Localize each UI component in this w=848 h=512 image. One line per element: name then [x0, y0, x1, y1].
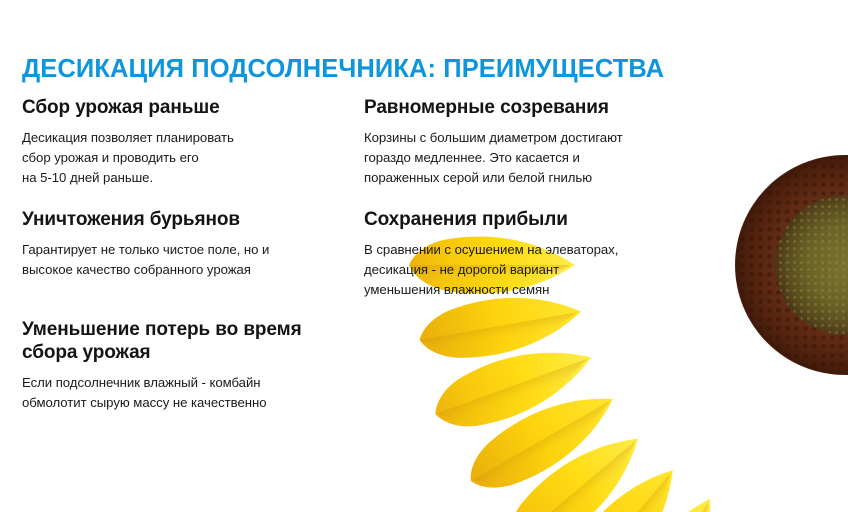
page-title: ДЕСИКАЦИЯ ПОДСОЛНЕЧНИКА: ПРЕИМУЩЕСТВА [22, 55, 664, 83]
benefit-heading: Равномерные созревания [364, 96, 694, 119]
benefit-heading: Уничтожения бурьянов [22, 208, 358, 231]
benefit-block: Уменьшение потерь во время сбора урожая … [22, 318, 374, 413]
benefit-heading: Сохранения прибыли [364, 208, 694, 231]
benefit-body: Если подсолнечник влажный - комбайн обмо… [22, 373, 374, 413]
benefit-block: Сбор урожая раньше Десикация позволяет п… [22, 96, 352, 188]
benefit-heading: Сбор урожая раньше [22, 96, 352, 119]
benefit-block: Уничтожения бурьянов Гарантирует не толь… [22, 208, 358, 280]
infographic-canvas: ДЕСИКАЦИЯ ПОДСОЛНЕЧНИКА: ПРЕИМУЩЕСТВА Сб… [0, 0, 848, 512]
benefit-block: Сохранения прибыли В сравнении с осушени… [364, 208, 694, 300]
benefit-body: Десикация позволяет планировать сбор уро… [22, 128, 352, 188]
benefit-block: Равномерные созревания Корзины с большим… [364, 96, 694, 188]
benefit-body: Гарантирует не только чистое поле, но и … [22, 240, 358, 280]
benefit-heading: Уменьшение потерь во время сбора урожая [22, 318, 374, 364]
benefit-body: Корзины с большим диаметром достигают го… [364, 128, 694, 188]
benefit-body: В сравнении с осушением на элеваторах, д… [364, 240, 694, 300]
